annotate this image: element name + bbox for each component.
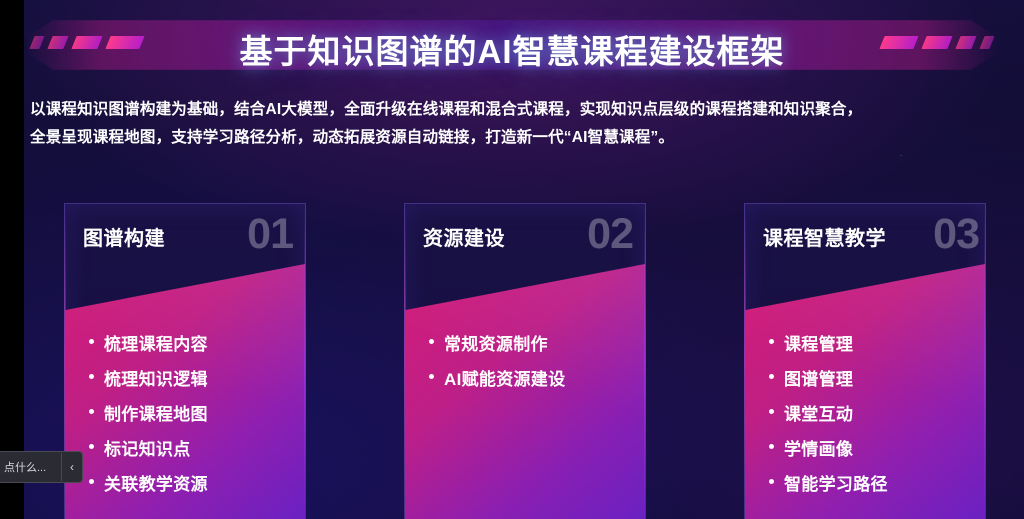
- chevron-left-icon[interactable]: ‹: [61, 453, 82, 481]
- list-item: 课程管理: [767, 330, 971, 355]
- list-item-label: 梳理知识逻辑: [104, 365, 208, 390]
- bullet-dot-icon: [89, 479, 94, 484]
- taskbar-popup[interactable]: 点什么... ‹: [0, 451, 83, 483]
- list-item-label: AI赋能资源建设: [444, 365, 565, 390]
- bullet-dot-icon: [89, 374, 94, 379]
- list-item: 梳理知识逻辑: [87, 365, 291, 390]
- bullet-dot-icon: [89, 409, 94, 414]
- card-title: 资源建设: [423, 222, 505, 251]
- list-item-label: 课程管理: [784, 330, 853, 355]
- card-smart-teaching[interactable]: 课程智慧教学 03 课程管理 图谱管理 课堂互动 学情画像 智能学习路径: [744, 203, 986, 519]
- list-item: 梳理课程内容: [87, 330, 291, 355]
- card-graph-construction[interactable]: 图谱构建 01 梳理课程内容 梳理知识逻辑 制作课程地图 标记知识点 关联教学资…: [64, 203, 306, 519]
- list-item-label: 制作课程地图: [104, 400, 208, 425]
- slide-canvas: 基于知识图谱的AI智慧课程建设框架 以课程知识图谱构建为基础，结合AI大模型，全…: [0, 0, 1024, 519]
- card-number: 03: [933, 210, 979, 259]
- bullet-dot-icon: [769, 444, 774, 449]
- bullet-dot-icon: [769, 374, 774, 379]
- card-resource-construction[interactable]: 资源建设 02 常规资源制作 AI赋能资源建设: [404, 203, 646, 519]
- card-header: 资源建设 02: [405, 204, 645, 266]
- left-screen-edge: [0, 0, 24, 519]
- bullet-dot-icon: [769, 339, 774, 344]
- list-item-label: 关联教学资源: [104, 470, 208, 495]
- title-banner: 基于知识图谱的AI智慧课程建设框架: [0, 14, 1024, 76]
- taskbar-label: 点什么...: [0, 459, 61, 475]
- bullet-dot-icon: [429, 339, 434, 344]
- intro-line-1: 以课程知识图谱构建为基础，结合AI大模型，全面升级在线课程和混合式课程，实现知识…: [30, 96, 998, 124]
- page-title: 基于知识图谱的AI智慧课程建设框架: [0, 25, 1024, 73]
- list-item-label: 学情画像: [784, 435, 853, 460]
- card-header: 课程智慧教学 03: [745, 204, 985, 266]
- bullet-dot-icon: [89, 444, 94, 449]
- card-number: 01: [247, 210, 293, 259]
- card-number: 02: [587, 210, 633, 259]
- bullet-dot-icon: [429, 374, 434, 379]
- card-title: 课程智慧教学: [763, 222, 886, 251]
- list-item: 制作课程地图: [87, 400, 291, 425]
- card-title: 图谱构建: [83, 222, 165, 251]
- list-item-label: 常规资源制作: [444, 330, 548, 355]
- bullet-dot-icon: [89, 339, 94, 344]
- list-item: 学情画像: [767, 435, 971, 460]
- list-item-label: 梳理课程内容: [104, 330, 208, 355]
- list-item-label: 智能学习路径: [784, 470, 888, 495]
- list-item: 常规资源制作: [427, 330, 631, 355]
- card-header: 图谱构建 01: [65, 204, 305, 266]
- list-item-label: 标记知识点: [104, 435, 191, 460]
- list-item-label: 课堂互动: [784, 400, 853, 425]
- bullet-dot-icon: [769, 409, 774, 414]
- card-bullet-list: 梳理课程内容 梳理知识逻辑 制作课程地图 标记知识点 关联教学资源: [87, 330, 291, 505]
- intro-line-2: 全景呈现课程地图，支持学习路径分析，动态拓展资源自动链接，打造新一代“AI智慧课…: [30, 124, 998, 152]
- list-item: 关联教学资源: [87, 470, 291, 495]
- list-item-label: 图谱管理: [784, 365, 853, 390]
- card-row: 图谱构建 01 梳理课程内容 梳理知识逻辑 制作课程地图 标记知识点 关联教学资…: [0, 203, 1024, 519]
- list-item: 智能学习路径: [767, 470, 971, 495]
- intro-paragraph: 以课程知识图谱构建为基础，结合AI大模型，全面升级在线课程和混合式课程，实现知识…: [30, 96, 998, 152]
- card-bullet-list: 课程管理 图谱管理 课堂互动 学情画像 智能学习路径: [767, 330, 971, 505]
- card-bullet-list: 常规资源制作 AI赋能资源建设: [427, 330, 631, 400]
- list-item: 标记知识点: [87, 435, 291, 460]
- bullet-dot-icon: [769, 479, 774, 484]
- bottom-left-black-strip: [0, 483, 24, 519]
- list-item: AI赋能资源建设: [427, 365, 631, 390]
- list-item: 课堂互动: [767, 400, 971, 425]
- list-item: 图谱管理: [767, 365, 971, 390]
